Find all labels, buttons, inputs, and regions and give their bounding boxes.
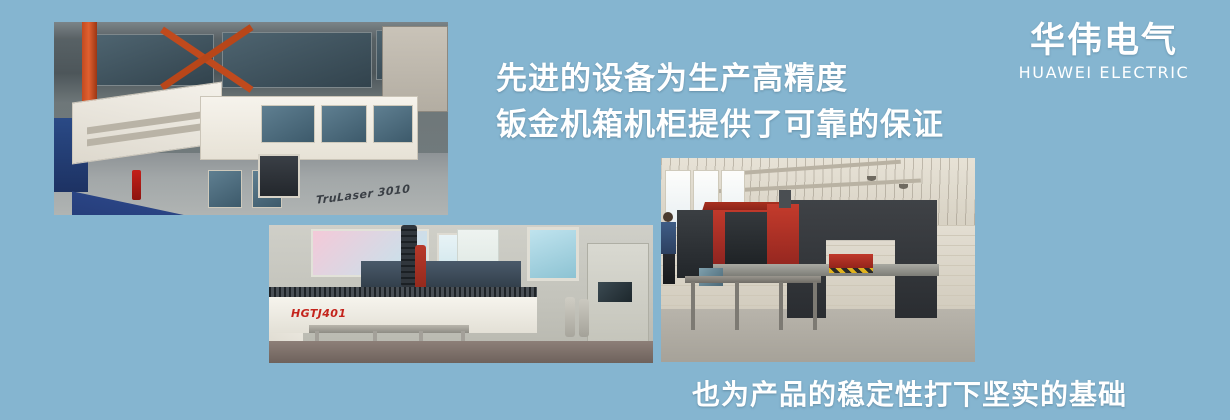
- operator-torso: [661, 222, 676, 254]
- hydraulic-tower: [779, 190, 791, 208]
- gas-cylinder: [565, 297, 575, 337]
- table-leg: [691, 282, 695, 330]
- photo-laser-cutting-machine: TruLaser 3010: [54, 22, 448, 215]
- material-table: [685, 276, 821, 283]
- machine-operator: [661, 212, 677, 284]
- enclosure-window: [261, 105, 315, 143]
- enclosure-window: [373, 105, 413, 143]
- logo-chinese-name: 华伟电气: [1016, 20, 1192, 62]
- workshop-window: [527, 227, 579, 281]
- cabinet-screen: [598, 282, 632, 302]
- table-leg: [813, 282, 817, 330]
- gas-cylinder: [579, 299, 589, 337]
- enclosure-door-window: [208, 170, 242, 208]
- control-panel: [258, 154, 300, 198]
- workshop-floor: [269, 341, 653, 363]
- table-leg: [779, 282, 783, 330]
- ceiling-lamp: [867, 176, 876, 181]
- logo-english-name: HUAWEI ELECTRIC: [1016, 62, 1192, 84]
- press-ram-housing: [767, 204, 799, 268]
- machine-body: TruLaser 3010: [72, 92, 412, 190]
- promo-banner: TruLaser 3010 HGTJ401: [0, 0, 1230, 420]
- machine-enclosure: [200, 96, 418, 160]
- operator-legs: [663, 254, 675, 284]
- hazard-stripe: [829, 268, 873, 273]
- photo-turret-punch-press: [661, 158, 975, 362]
- window-pane: [222, 32, 372, 88]
- work-table: [309, 325, 469, 333]
- machine-model-label: HGTJ401: [291, 307, 346, 320]
- enclosure-window: [321, 105, 367, 143]
- operator-console: [677, 210, 713, 278]
- press-bed: [695, 264, 939, 276]
- table-leg: [735, 282, 739, 330]
- operator-head: [663, 212, 673, 222]
- turret-assembly: [725, 212, 771, 264]
- headline-text: 先进的设备为生产高精度 钣金机箱机柜提供了可靠的保证: [496, 56, 944, 148]
- photo-cnc-cutting-table: HGTJ401: [269, 225, 653, 363]
- company-logo: 华伟电气 HUAWEI ELECTRIC: [1016, 20, 1192, 84]
- ceiling-lamp: [899, 184, 908, 189]
- control-cabinet: [587, 243, 649, 357]
- headline-line-2: 钣金机箱机柜提供了可靠的保证: [496, 102, 944, 148]
- headline-line-1: 先进的设备为生产高精度: [496, 56, 944, 102]
- fire-extinguisher: [132, 170, 141, 200]
- subline-text: 也为产品的稳定性打下坚实的基础: [692, 373, 1127, 413]
